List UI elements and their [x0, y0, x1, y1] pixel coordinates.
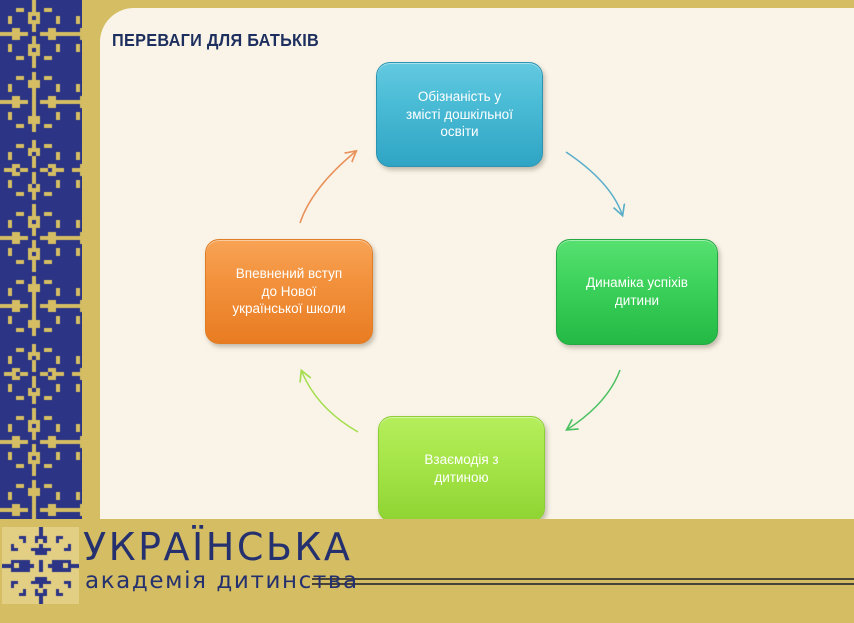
- cycle-node-top-label: Обізнаність у змісті дошкільної освіти: [387, 88, 532, 141]
- slide-canvas: ПЕРЕВАГИ ДЛЯ БАТЬКІВ Обізнаність у зміст…: [0, 0, 854, 623]
- brand-tagline: академія дитинства: [85, 570, 359, 593]
- footer-divider: [312, 578, 854, 585]
- cycle-node-right[interactable]: Динаміка успіхів дитини: [556, 239, 718, 345]
- cycle-node-bottom-label: Взаємодія з дитиною: [389, 451, 534, 487]
- brand-name: УКРАЇНСЬКА: [83, 528, 352, 566]
- cycle-node-left-label: Впевнений вступ до Нової української шко…: [216, 265, 362, 318]
- cycle-node-left[interactable]: Впевнений вступ до Нової української шко…: [205, 239, 373, 344]
- page-title: ПЕРЕВАГИ ДЛЯ БАТЬКІВ: [112, 30, 319, 51]
- ukrainian-embroidery-icon: [2, 527, 79, 604]
- cycle-node-bottom[interactable]: Взаємодія з дитиною: [378, 416, 545, 522]
- cycle-node-right-label: Динаміка успіхів дитини: [567, 274, 707, 310]
- cycle-node-top[interactable]: Обізнаність у змісті дошкільної освіти: [376, 62, 543, 167]
